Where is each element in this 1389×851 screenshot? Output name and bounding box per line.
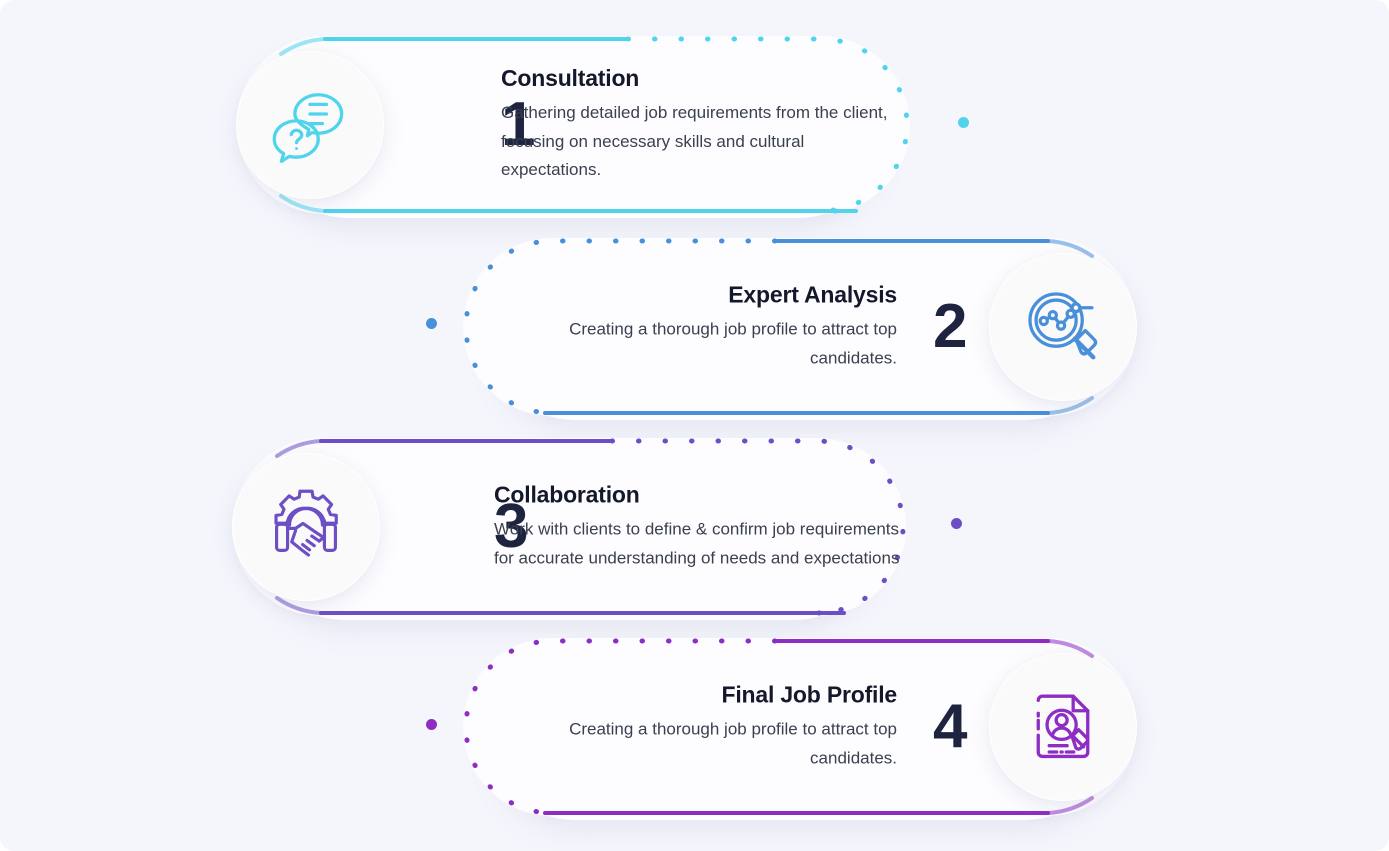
- step-card-4[interactable]: 4 Final Job Profile Creating a thorough …: [463, 638, 1137, 816]
- step-card-2[interactable]: 2 Expert Analysis Creating a thorough jo…: [463, 238, 1137, 416]
- step-card-1[interactable]: 1 Consultation Gathering detailed job re…: [236, 36, 910, 214]
- step-text-4: Final Job Profile Creating a thorough jo…: [495, 681, 897, 772]
- infographic-canvas: 1 Consultation Gathering detailed job re…: [0, 0, 1389, 851]
- step-title-3: Collaboration: [494, 481, 906, 508]
- step-lead-dot-4: [426, 719, 437, 730]
- step-description-1: Gathering detailed job requirements from…: [501, 99, 901, 185]
- document-person-magnifier-icon: [1019, 683, 1107, 771]
- step-icon-medallion-1: [236, 51, 384, 199]
- chat-bubbles-question-icon: [266, 81, 354, 169]
- step-text-3: Collaboration Work with clients to defin…: [494, 481, 906, 572]
- step-title-2: Expert Analysis: [495, 281, 897, 308]
- step-description-4: Creating a thorough job profile to attra…: [495, 715, 897, 772]
- step-description-3: Work with clients to define & confirm jo…: [494, 515, 906, 572]
- step-card-3[interactable]: 3 Collaboration Work with clients to def…: [232, 438, 906, 616]
- magnifier-chart-icon: [1019, 283, 1107, 371]
- step-icon-medallion-4: [989, 653, 1137, 801]
- step-title-4: Final Job Profile: [495, 681, 897, 708]
- handshake-gear-icon: [262, 483, 350, 571]
- step-lead-dot-3: [951, 518, 962, 529]
- step-icon-medallion-3: [232, 453, 380, 601]
- step-number-4: 4: [933, 696, 966, 758]
- step-title-1: Consultation: [501, 65, 901, 92]
- step-icon-medallion-2: [989, 253, 1137, 401]
- step-number-2: 2: [933, 296, 966, 358]
- step-description-2: Creating a thorough job profile to attra…: [495, 315, 897, 372]
- step-text-1: Consultation Gathering detailed job requ…: [501, 65, 901, 185]
- step-lead-dot-2: [426, 318, 437, 329]
- step-text-2: Expert Analysis Creating a thorough job …: [495, 281, 897, 372]
- step-lead-dot-1: [958, 117, 969, 128]
